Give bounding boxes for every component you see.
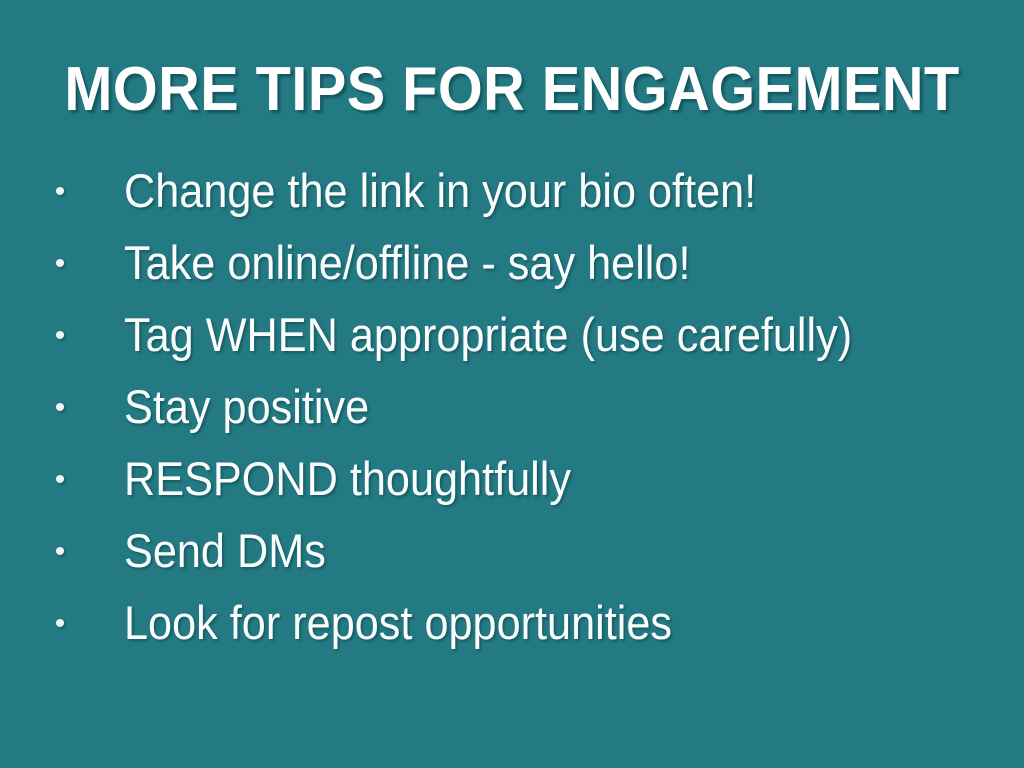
slide-canvas: MORE TIPS FOR ENGAGEMENT Change the link… — [0, 0, 1024, 768]
list-item: Take online/offline - say hello! — [0, 227, 1024, 299]
bullet-dot-icon — [56, 187, 64, 195]
list-item-label: Take online/offline - say hello! — [124, 235, 690, 291]
list-item: Tag WHEN appropriate (use carefully) — [0, 299, 1024, 371]
list-item-label: Stay positive — [124, 379, 369, 435]
list-item-label: Send DMs — [124, 523, 326, 579]
bullet-dot-icon — [56, 331, 64, 339]
list-item: Change the link in your bio often! — [0, 155, 1024, 227]
bullet-dot-icon — [56, 619, 64, 627]
list-item-label: Tag WHEN appropriate (use carefully) — [124, 307, 852, 363]
bullet-list: Change the link in your bio often! Take … — [0, 155, 1024, 659]
bullet-dot-icon — [56, 403, 64, 411]
bullet-dot-icon — [56, 475, 64, 483]
list-item-label: Change the link in your bio often! — [124, 163, 756, 219]
list-item: Stay positive — [0, 371, 1024, 443]
list-item-label: Look for repost opportunities — [124, 595, 672, 651]
bullet-dot-icon — [56, 259, 64, 267]
list-item: Look for repost opportunities — [0, 587, 1024, 659]
list-item: RESPOND thoughtfully — [0, 443, 1024, 515]
list-item-label: RESPOND thoughtfully — [124, 451, 571, 507]
bullet-dot-icon — [56, 547, 64, 555]
page-title: MORE TIPS FOR ENGAGEMENT — [36, 56, 988, 124]
list-item: Send DMs — [0, 515, 1024, 587]
